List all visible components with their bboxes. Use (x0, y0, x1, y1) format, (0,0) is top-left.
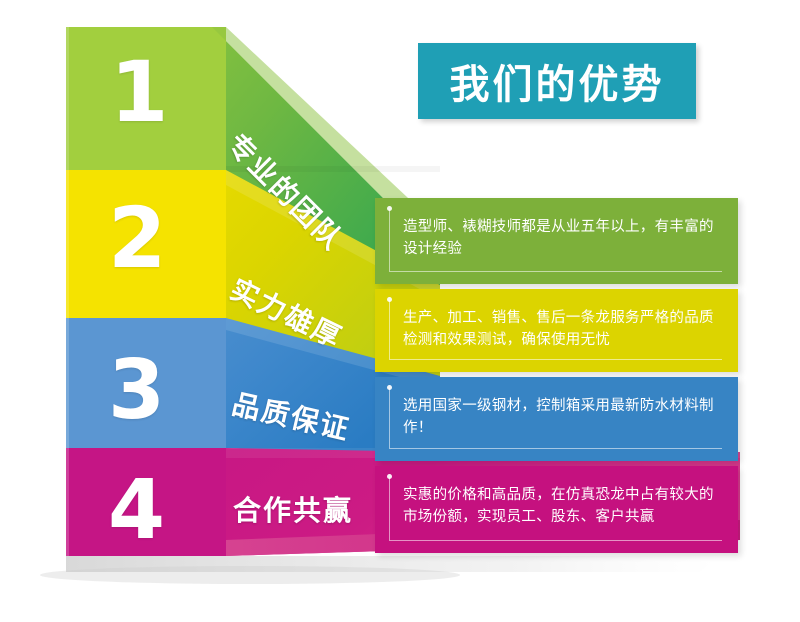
page-title: 我们的优势 (450, 52, 665, 110)
description-panel-1: 造型师、裱糊技师都是从业五年以上，有丰富的设计经验 (375, 198, 738, 284)
title-banner: 我们的优势 (418, 43, 696, 119)
step-number-3: 3 (108, 350, 163, 432)
bullet-dot-icon (387, 297, 392, 302)
description-text-2: 生产、加工、销售、售后一条龙服务严格的品质检测和效果测试，确保使用无忧 (403, 307, 723, 352)
description-text-1: 造型师、裱糊技师都是从业五年以上，有丰富的设计经验 (403, 216, 723, 261)
description-panel-2: 生产、加工、销售、售后一条龙服务严格的品质检测和效果测试，确保使用无忧 (375, 289, 738, 372)
step-label-4: 合作共赢 (233, 489, 353, 529)
bullet-dot-icon (387, 474, 392, 479)
description-text-3: 选用国家一级钢材，控制箱采用最新防水材料制作！ (403, 395, 723, 440)
description-panel-3: 选用国家一级钢材，控制箱采用最新防水材料制作！ (375, 377, 738, 461)
step-number-4: 4 (108, 470, 163, 552)
description-panel-4: 实惠的价格和高品质，在仿真恐龙中占有较大的市场份额，实现员工、股东、客户共赢 (375, 466, 738, 553)
infographic-canvas: 我们的优势 1 2 3 4 专业的团队 实力雄厚 品质保证 合作共赢 造型师、裱… (0, 0, 800, 622)
bullet-dot-icon (387, 385, 392, 390)
description-text-4: 实惠的价格和高品质，在仿真恐龙中占有较大的市场份额，实现员工、股东、客户共赢 (403, 484, 723, 529)
step-number-1: 1 (110, 50, 166, 134)
step-number-2: 2 (108, 196, 164, 280)
bullet-dot-icon (387, 206, 392, 211)
